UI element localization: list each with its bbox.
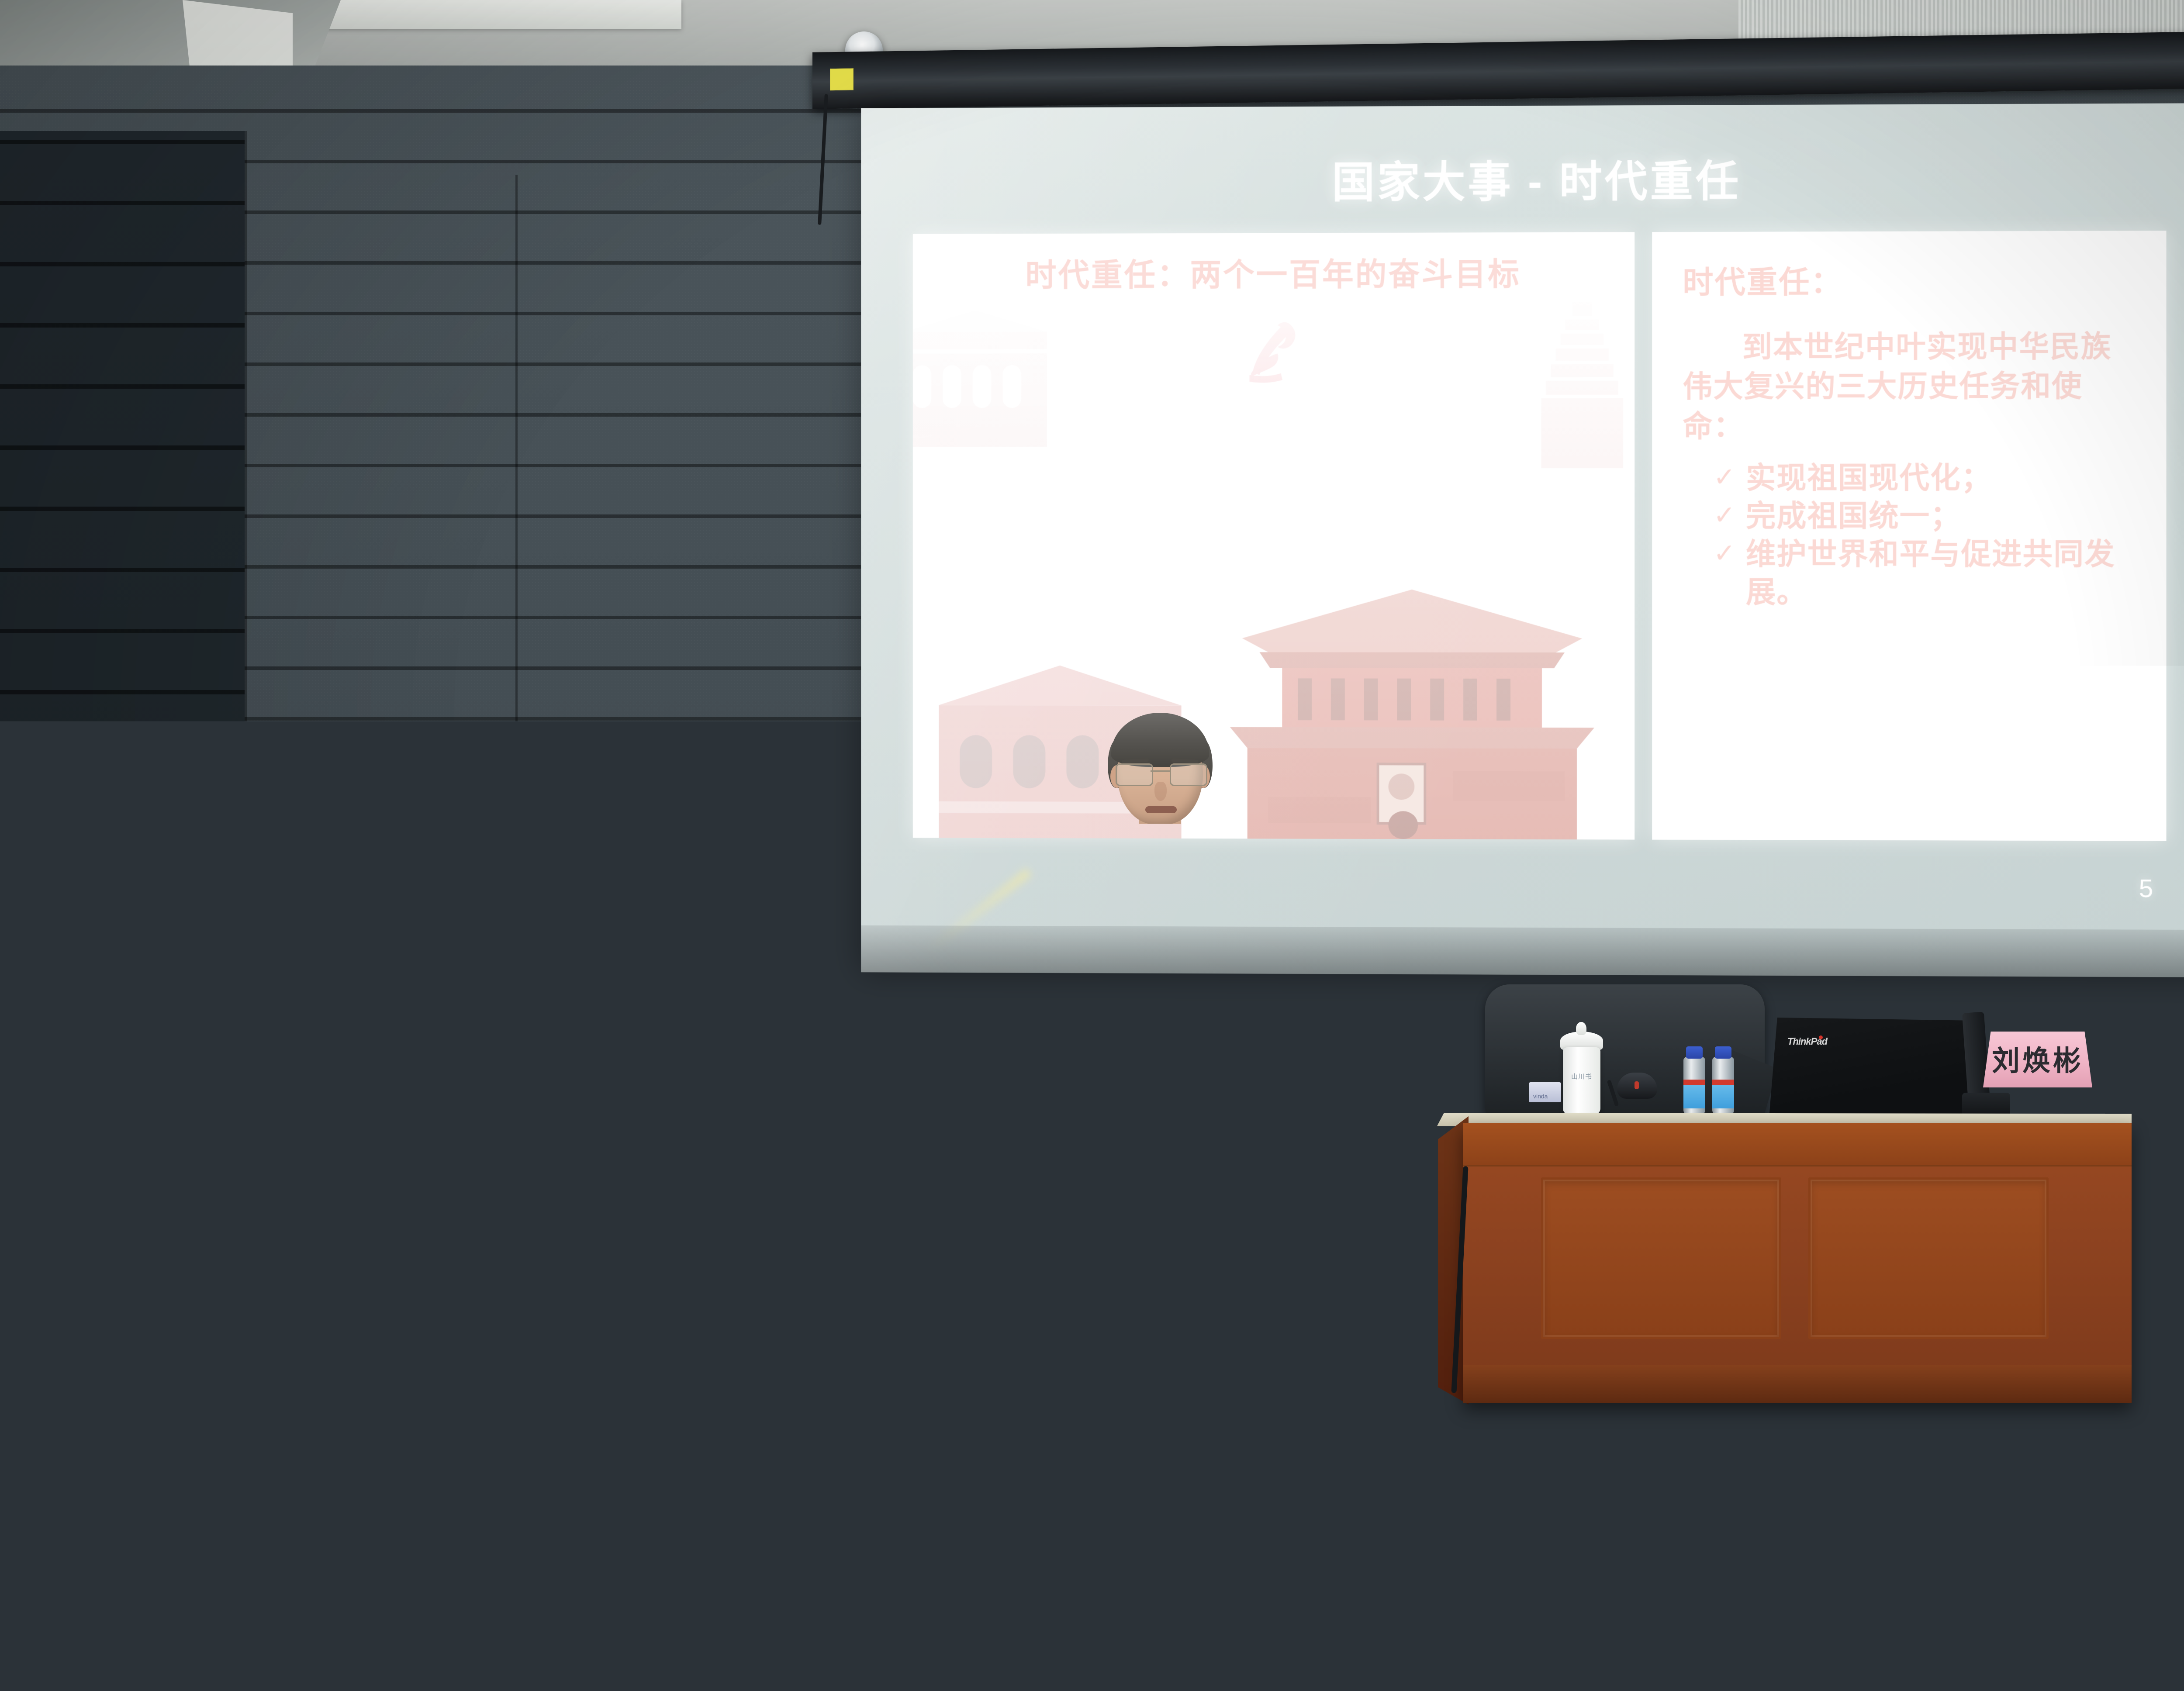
slide-right-paragraph: 到本世纪中叶实现中华民族伟大复兴的三大历史任务和使命： xyxy=(1683,327,2135,447)
podium-title: 卓越大讲堂 xyxy=(527,993,649,1026)
mouse-led xyxy=(1635,1081,1639,1089)
audience-head xyxy=(367,1474,492,1611)
audience: 18 20 26 xyxy=(0,1336,2184,1691)
slide-number: 5 xyxy=(2139,874,2153,903)
university-emblem-icon xyxy=(591,1104,621,1134)
water-bottle-cap xyxy=(1715,1046,1731,1059)
cpc-emblem-icon xyxy=(1231,307,1314,390)
audience-head xyxy=(2063,1467,2184,1610)
desk-panel-inset xyxy=(1808,1177,2049,1339)
audience-head xyxy=(1686,1590,1870,1691)
podium-header-gradient-edge xyxy=(484,974,508,1062)
podium-topic: 人工智能与工业智能技术的研发应用 xyxy=(508,1149,709,1184)
housing-label-icon xyxy=(830,68,854,90)
slide-title: 国家大事 - 时代重任 xyxy=(861,145,2184,211)
tea-cup-label: 山川书 xyxy=(1567,1072,1596,1081)
tea-cup xyxy=(1563,1047,1600,1115)
university-emblem-icon xyxy=(551,1104,582,1134)
slide-right-panel: 时代重任： 到本世纪中叶实现中华民族伟大复兴的三大历史任务和使命： ✓ 实现祖国… xyxy=(1652,231,2166,841)
wall-panel-left-dark xyxy=(0,131,245,1179)
slide-right-heading: 时代重任： xyxy=(1683,257,2135,303)
glasses-lens-right xyxy=(1170,763,1207,786)
speaker-nose xyxy=(1154,782,1167,801)
list-item: ✓ 实现祖国现代化； xyxy=(1714,459,2136,497)
list-item: ✓ 维护世界和平与促进共同发展。 xyxy=(1714,535,2136,612)
list-item-label: 维护世界和平与促进共同发展。 xyxy=(1746,535,2136,612)
glasses-lens-left xyxy=(1116,763,1153,786)
water-bottle-cap xyxy=(1686,1046,1703,1059)
list-item: ✓ 完成祖国统一； xyxy=(1714,497,2136,536)
list-item-label: 实现祖国现代化； xyxy=(1746,459,1992,498)
podium-title-underline xyxy=(532,1024,672,1026)
audience-head xyxy=(1348,1497,1465,1622)
water-bottle-brand-stripe xyxy=(1683,1080,1705,1085)
check-icon: ✓ xyxy=(1714,459,1736,495)
laptop: ThinkPad xyxy=(1769,1018,1974,1118)
audience-head xyxy=(1724,1436,1828,1543)
desk-apron xyxy=(1463,1123,2132,1166)
audience-head xyxy=(1494,1553,1690,1691)
desk-panel-inset xyxy=(1541,1177,1781,1339)
audience-head xyxy=(301,1638,485,1691)
audience-head xyxy=(256,1439,356,1543)
slide-left-heading: 时代重任：两个一百年的奋斗目标 xyxy=(913,248,1635,295)
audience-head xyxy=(1039,1440,1136,1540)
slide-right-list: ✓ 实现祖国现代化； ✓ 完成祖国统一； ✓ 维护世界和平与促进共同发展。 xyxy=(1683,459,2135,612)
audience-head xyxy=(804,1438,903,1542)
audience-head xyxy=(1475,1446,1576,1550)
check-icon: ✓ xyxy=(1714,535,1736,571)
nameplate-label: 刘焕彬 xyxy=(1987,1039,2089,1079)
laptop-logo-dot-icon xyxy=(1819,1035,1823,1039)
speaker-mouth xyxy=(1145,806,1177,813)
microphone-head xyxy=(1153,990,1187,1029)
power-socket xyxy=(902,1139,931,1167)
speaker xyxy=(1018,716,1297,1406)
speaker-trousers xyxy=(1070,1115,1247,1359)
list-item-label: 完成祖国统一； xyxy=(1746,497,1961,535)
speaker-hair-top xyxy=(1111,713,1209,767)
podium-session-badge-label: 第十三讲 xyxy=(676,995,732,1016)
tea-cup-knob xyxy=(1576,1022,1586,1035)
wall-seam xyxy=(245,131,247,1179)
check-icon: ✓ xyxy=(1714,497,1736,533)
podium-emblems xyxy=(551,1104,621,1134)
audience-head xyxy=(1966,1453,2060,1550)
glasses-bridge xyxy=(1151,770,1170,772)
podium-body xyxy=(506,1058,711,1334)
monitor-arm-base xyxy=(1962,1093,2010,1117)
arcade-building-graphic xyxy=(913,303,1047,447)
lecture-hall-scene: GrandView 国家大事 - 时代重任 时代重任：两个一百年的奋斗目标 xyxy=(0,0,2184,1691)
water-bottle-brand-stripe xyxy=(1712,1080,1734,1085)
audience-head xyxy=(2110,1598,2184,1691)
podium-session-badge: 第十三讲 xyxy=(671,991,736,1021)
speaker-leg-separation xyxy=(1151,1175,1158,1359)
podium-topic-underline xyxy=(516,1172,700,1173)
pagoda-graphic xyxy=(1534,293,1630,468)
tissue-pack-label: vinda xyxy=(1533,1093,1548,1100)
campus-building-illustration xyxy=(523,1202,698,1285)
podium: 卓越大讲堂 第十三讲 人工智能与工业智能技术的研发应用 xyxy=(450,957,756,1394)
